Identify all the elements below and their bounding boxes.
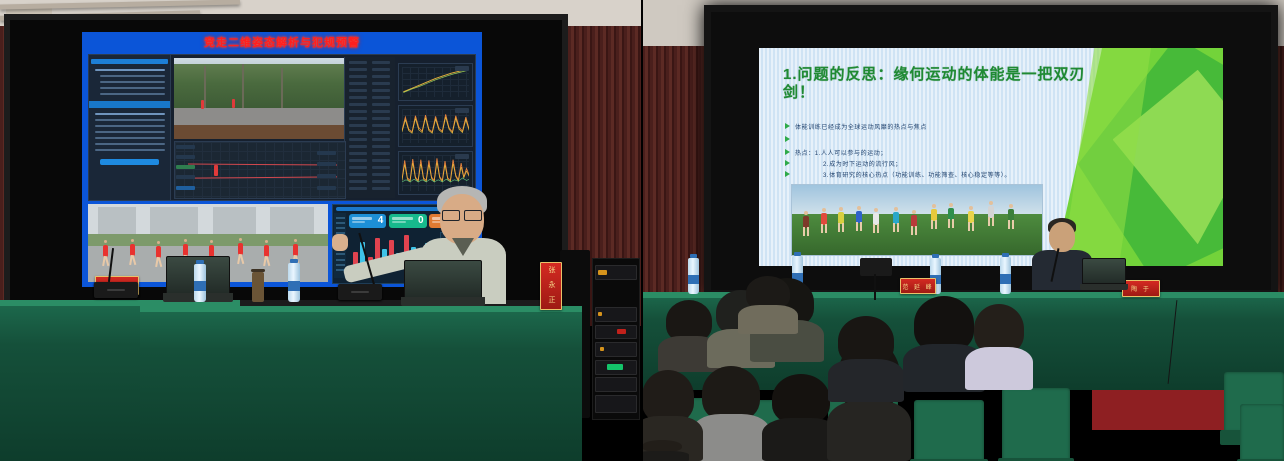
audience-chair — [1240, 404, 1284, 461]
audience-member — [642, 440, 682, 461]
camera-tripod-leg — [874, 274, 876, 300]
microphone-base — [338, 284, 382, 300]
metric-cell — [349, 75, 367, 78]
param-chip — [176, 145, 195, 149]
nameplate-right: 张 永 正 — [540, 262, 562, 310]
water-bottle — [688, 258, 699, 294]
app-sidebar[interactable] — [89, 55, 171, 200]
audience-chair — [1002, 388, 1070, 461]
bottle-label — [288, 281, 300, 291]
bottle-label — [194, 281, 206, 291]
right-photo-panel: 1.问题的反思：缘何运动的体能是一把双刃剑！ 体能训练已经成为全球运动风靡的热点… — [642, 0, 1284, 461]
speaker-hand — [332, 234, 348, 251]
metric-cell — [372, 173, 390, 176]
video-runner — [201, 100, 204, 109]
rack-unit — [595, 307, 637, 322]
laptop-right-speaker — [1082, 258, 1126, 290]
sidebar-selected-row[interactable] — [89, 101, 170, 108]
chart-line-svg — [402, 67, 469, 94]
audience-member — [974, 304, 1024, 390]
slide-bullet: 热点：1.人人可以参与的运动； — [785, 148, 887, 157]
rack-unit — [595, 395, 637, 413]
race-photo — [791, 184, 1043, 256]
race-runner — [892, 206, 900, 232]
chart-legend — [455, 66, 469, 71]
chart-line-svg — [402, 109, 469, 136]
panel-divider — [641, 0, 643, 461]
metric-cell — [372, 145, 390, 148]
metric-cell — [372, 96, 390, 99]
metric-cell — [372, 187, 390, 190]
video-runner — [232, 99, 235, 108]
projection-screen: 1.问题的反思：缘何运动的体能是一把双刃剑！ 体能训练已经成为全球运动风靡的热点… — [704, 5, 1278, 297]
head-table — [140, 306, 582, 461]
metric-cell — [349, 82, 367, 85]
param-chip — [317, 162, 336, 166]
video-trees — [174, 64, 344, 108]
slide-right-title: 1.问题的反思：缘何运动的体能是一把双刃剑！ — [783, 66, 1113, 101]
metric-cell — [372, 117, 390, 120]
bullet-text: 热点：1.人人可以参与的运动； — [795, 148, 887, 157]
metric-cell — [349, 159, 367, 162]
audience-member — [746, 276, 790, 334]
tree-trunk — [281, 68, 283, 109]
race-runner — [910, 209, 918, 235]
water-bottle — [194, 264, 206, 302]
metric-cell — [372, 103, 390, 106]
kpi-value: 4 — [378, 216, 384, 226]
composite-screenshot: 竞走二维姿态解析与犯规预警 — [0, 0, 1284, 461]
video-preview-pane — [174, 58, 344, 139]
slide-bullet: 2.成为时下运动的流行风； — [785, 159, 902, 168]
chart-cumulative-displacement — [398, 63, 473, 101]
param-chip — [176, 175, 195, 179]
sidebar-item[interactable] — [95, 143, 165, 145]
analysis-app-window — [88, 54, 476, 201]
metric-cell — [349, 145, 367, 148]
left-photo-panel: 竞走二维姿态解析与犯规预警 — [0, 0, 642, 461]
chart-period-waveform — [398, 105, 473, 147]
metric-cell — [372, 124, 390, 127]
cup-lid — [251, 269, 265, 272]
rack-unit — [595, 325, 637, 340]
rack-unit — [595, 265, 637, 280]
audience-member — [772, 374, 830, 461]
race-runner — [930, 203, 938, 229]
glasses-icon — [464, 210, 482, 221]
metric-cell — [372, 159, 390, 162]
race-runner — [837, 206, 845, 232]
metric-cell — [349, 124, 367, 127]
sidebar-item[interactable] — [95, 137, 165, 139]
metric-cell — [372, 180, 390, 183]
laptop-right — [404, 260, 482, 306]
water-bottle — [1000, 257, 1011, 294]
chart-line-svg — [402, 155, 469, 183]
metric-cell — [372, 82, 390, 85]
bullet-triangle-icon — [785, 149, 790, 155]
slide-right: 1.问题的反思：缘何运动的体能是一把双刃剑！ 体能训练已经成为全球运动风靡的热点… — [759, 48, 1223, 266]
glasses-icon — [442, 210, 460, 221]
metric-cell — [372, 131, 390, 134]
sidebar-action-button[interactable] — [100, 159, 158, 165]
metric-cell — [349, 117, 367, 120]
metric-cell — [372, 166, 390, 169]
param-chip — [317, 151, 336, 155]
bullet-text: 体能训练已经成为全球运动风靡的热点与焦点 — [795, 122, 927, 131]
chart-legend — [455, 108, 469, 113]
water-bottle — [288, 263, 300, 302]
race-runner — [802, 210, 810, 236]
metric-cell — [372, 110, 390, 113]
race-runner — [947, 202, 955, 228]
bottle-cap — [196, 260, 203, 264]
param-chip — [176, 186, 195, 190]
race-walker — [237, 238, 244, 264]
microphone-base — [94, 282, 138, 298]
race-walker — [129, 239, 136, 265]
laptop-lid — [1082, 258, 1126, 284]
tree-trunk — [242, 64, 244, 108]
video-dirt — [174, 125, 344, 140]
metric-cell — [372, 75, 390, 78]
table-edge — [140, 306, 582, 312]
audio-equipment-rack — [592, 258, 640, 420]
param-chip — [176, 165, 195, 169]
race-walker — [102, 240, 109, 266]
metric-cell — [349, 166, 367, 169]
speaker-head — [1049, 222, 1075, 252]
rack-unit — [595, 377, 637, 392]
metric-cell — [349, 68, 367, 71]
sidebar-item[interactable] — [100, 81, 165, 83]
bullet-triangle-icon — [785, 136, 790, 142]
metric-cell — [372, 152, 390, 155]
race-walker — [263, 240, 270, 266]
race-runner — [987, 200, 995, 226]
kpi-card-blue: 4 — [349, 214, 386, 229]
bullet-triangle-icon — [785, 171, 790, 177]
sidebar-item[interactable] — [100, 75, 165, 77]
trajectory-pane — [174, 141, 346, 200]
metric-cell — [372, 138, 390, 141]
tea-cup — [252, 272, 264, 302]
metric-cell — [372, 61, 390, 64]
metric-cell — [349, 61, 367, 64]
metric-cell — [372, 68, 390, 71]
audience-chair — [914, 400, 984, 461]
metric-cell — [349, 138, 367, 141]
sidebar-item[interactable] — [100, 87, 165, 89]
metric-cell — [349, 152, 367, 155]
slide-bullet: 体能训练已经成为全球运动风靡的热点与焦点 — [785, 122, 927, 131]
race-runner — [1007, 203, 1015, 229]
trajectory-skeleton — [214, 165, 218, 176]
rack-unit — [595, 360, 637, 375]
sidebar-item[interactable] — [100, 93, 165, 95]
metric-cell — [349, 96, 367, 99]
metric-cell — [372, 89, 390, 92]
bottle-cap — [290, 259, 297, 263]
kpi-sublabel — [352, 221, 365, 223]
sidebar-item[interactable] — [95, 119, 165, 121]
tree-trunk — [204, 66, 206, 108]
chart-column — [398, 57, 473, 198]
sidebar-header — [91, 59, 167, 64]
metric-cell — [349, 187, 367, 190]
race-walker — [155, 241, 162, 267]
laptop-base — [401, 297, 485, 306]
bullet-text: 3.体育研究的核心热点（功能训练、功能筛查、核心稳定等等）。 — [823, 170, 1011, 179]
sidebar-item[interactable] — [95, 149, 165, 151]
laptop-base — [1080, 284, 1128, 290]
kpi-label — [352, 217, 373, 220]
race-runner — [967, 205, 975, 231]
nameplate-audience-table: 范 延 峰 — [900, 278, 936, 294]
audience-member — [702, 366, 760, 461]
slide-bullet: 3.体育研究的核心热点（功能训练、功能筛查、核心稳定等等）。 — [785, 170, 1011, 179]
metric-cell — [349, 180, 367, 183]
sidebar-item[interactable] — [95, 131, 165, 133]
bullet-triangle-icon — [785, 160, 790, 166]
audience-member — [666, 300, 712, 372]
param-chip — [317, 174, 336, 178]
metric-cell — [349, 110, 367, 113]
sidebar-item[interactable] — [95, 69, 165, 71]
race-runner — [872, 207, 880, 233]
param-chip — [317, 186, 336, 190]
sidebar-item[interactable] — [95, 125, 165, 127]
param-chip — [176, 155, 195, 159]
metric-cell — [349, 89, 367, 92]
video-road — [174, 108, 344, 124]
chart-legend — [455, 154, 469, 159]
camera-on-tripod — [860, 258, 892, 276]
laptop-lid — [404, 260, 482, 298]
bullet-triangle-icon — [785, 123, 790, 129]
slide-bullet — [785, 135, 795, 142]
metric-cell — [349, 103, 367, 106]
metric-cell — [349, 173, 367, 176]
slide-left-title: 竞走二维姿态解析与犯规预警 — [82, 34, 482, 50]
metric-cell — [349, 131, 367, 134]
bullet-text: 2.成为时下运动的流行风； — [823, 159, 902, 168]
race-runner — [820, 207, 828, 233]
metrics-list-column[interactable] — [344, 57, 395, 198]
race-runner — [855, 205, 863, 231]
rack-unit — [595, 342, 637, 357]
sidebar-item[interactable] — [95, 113, 165, 115]
audience-member — [838, 316, 894, 402]
